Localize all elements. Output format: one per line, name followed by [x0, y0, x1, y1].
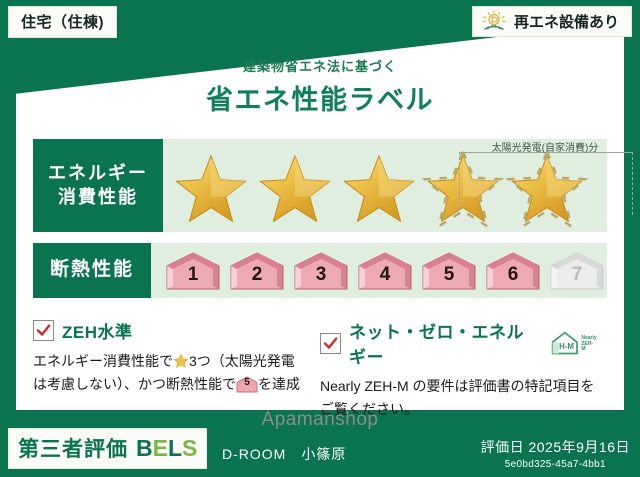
grade-number: 6 [508, 264, 519, 292]
bels-jp-text: 第三者評価 [18, 433, 128, 463]
grade-number: 5 [444, 264, 455, 292]
grade-number: 4 [380, 264, 391, 292]
title-subtitle: 建築物省エネ法に基づく [0, 56, 640, 75]
inline-star-icon [173, 353, 189, 369]
star-icon [256, 152, 334, 226]
zeh-text-part1: エネルギー消費性能で [33, 353, 173, 369]
star-icon [424, 152, 502, 226]
star-icon [172, 152, 250, 226]
bels-letter-b: B [136, 435, 153, 461]
evaluation-date: 評価日 2025年9月16日 [481, 437, 630, 457]
star-3 [337, 150, 421, 228]
star-4 [421, 150, 505, 228]
label-title-block: 建築物省エネ法に基づく 省エネ性能ラベル [0, 56, 640, 117]
insulation-row-body: 1234567 [151, 243, 607, 298]
grade-badge-6: 6 [483, 250, 543, 292]
solar-sun-icon [481, 10, 507, 32]
check-icon [36, 323, 51, 338]
bels-letter-l: L [168, 435, 182, 461]
solar-note-label: 太陽光発電(自家消費)分 [457, 139, 633, 154]
bels-letter-e: E [153, 435, 168, 461]
footer-bar: 第三者評価 BELS D-ROOM 小篠原 評価日 2025年9月16日 5e0… [0, 430, 640, 477]
grade-badge-2: 2 [227, 250, 287, 292]
star-2 [253, 150, 337, 228]
inline-grade-number: 5 [236, 376, 258, 393]
evaluation-id: 5e0bd325-45a7-4bb1 [481, 459, 630, 470]
renewable-badge-label: 再エネ設備あり [514, 11, 619, 32]
renewable-energy-badge: 再エネ設備あり [472, 6, 632, 37]
insulation-label-text: 断熱性能 [50, 258, 134, 282]
zeh-star-count: 3つ（太陽光発電 [189, 353, 295, 369]
zeh-criteria-header: ZEH水準 [33, 318, 310, 343]
zeh-m-logo: H-M Nearly ZEH-M [550, 330, 597, 356]
building-type-label: 住宅（住棟) [21, 14, 104, 31]
zeh-text-part3: を達成 [258, 376, 300, 392]
grade-badge-7: 7 [547, 250, 607, 292]
building-type-tag: 住宅（住棟) [8, 6, 117, 38]
property-name: D-ROOM 小篠原 [222, 444, 346, 464]
svg-text:H-M: H-M [559, 342, 574, 351]
energy-row-body: 太陽光発電(自家消費)分 [163, 139, 607, 232]
energy-label-root: 住宅（住棟) 再エネ設備あり 建築 [0, 0, 640, 477]
criteria-section: ZEH水準 エネルギー消費性能で3つ（太陽光発電は考慮しない）、かつ断熱性能で5… [33, 318, 607, 420]
star-icon [508, 152, 586, 226]
nze-criteria-header: ネット・ゼロ・エネルギー H-M Nearly ZEH-M [320, 318, 597, 368]
star-1 [169, 150, 253, 228]
bels-logo-box: 第三者評価 BELS [8, 428, 207, 469]
grade-badge-5: 5 [419, 250, 479, 292]
insulation-grade-scale: 1234567 [151, 250, 607, 292]
nze-checkbox [320, 333, 341, 354]
zeh-caption-line2: ZEH-M [581, 341, 593, 353]
evaluation-info: 評価日 2025年9月16日 5e0bd325-45a7-4bb1 [481, 437, 630, 470]
zeh-text-part2: は考慮しない）、かつ断熱性能で [33, 376, 236, 392]
grade-number: 7 [572, 264, 583, 292]
inline-grade-badge: 5 [236, 376, 258, 393]
grade-number: 2 [252, 264, 263, 292]
criteria-zeh-standard: ZEH水準 エネルギー消費性能で3つ（太陽光発電は考慮しない）、かつ断熱性能で5… [33, 318, 320, 420]
bels-en-text: BELS [136, 435, 197, 462]
zeh-logo-caption: Nearly ZEH-M [581, 336, 597, 356]
grade-number: 1 [188, 264, 199, 292]
zeh-criteria-title: ZEH水準 [62, 318, 133, 343]
energy-label-line2: 消費性能 [58, 186, 138, 209]
check-icon [323, 336, 338, 351]
insulation-row-label: 断熱性能 [33, 243, 151, 298]
grade-badge-4: 4 [355, 250, 415, 292]
grade-badge-1: 1 [163, 250, 223, 292]
grade-number: 3 [316, 264, 327, 292]
zeh-checkbox [33, 320, 54, 341]
watermark: Apamanshop [0, 409, 640, 431]
star-icon [340, 152, 418, 226]
energy-performance-row: エネルギー 消費性能 太陽光発電(自家消費)分 [33, 139, 607, 232]
energy-star-rating [163, 150, 589, 228]
grade-badge-3: 3 [291, 250, 351, 292]
criteria-net-zero-energy: ネット・ゼロ・エネルギー H-M Nearly ZEH-M N [320, 318, 607, 420]
insulation-performance-row: 断熱性能 1234567 [33, 243, 607, 298]
title-main: 省エネ性能ラベル [0, 78, 640, 117]
energy-label-line1: エネルギー [48, 162, 148, 185]
zeh-criteria-text: エネルギー消費性能で3つ（太陽光発電は考慮しない）、かつ断熱性能で5を達成 [33, 350, 310, 395]
star-5 [505, 150, 589, 228]
energy-row-label: エネルギー 消費性能 [33, 139, 163, 232]
nze-criteria-title: ネット・ゼロ・エネルギー [349, 318, 540, 368]
zeh-house-icon: H-M [550, 330, 580, 356]
bels-letter-s: S [182, 435, 197, 461]
